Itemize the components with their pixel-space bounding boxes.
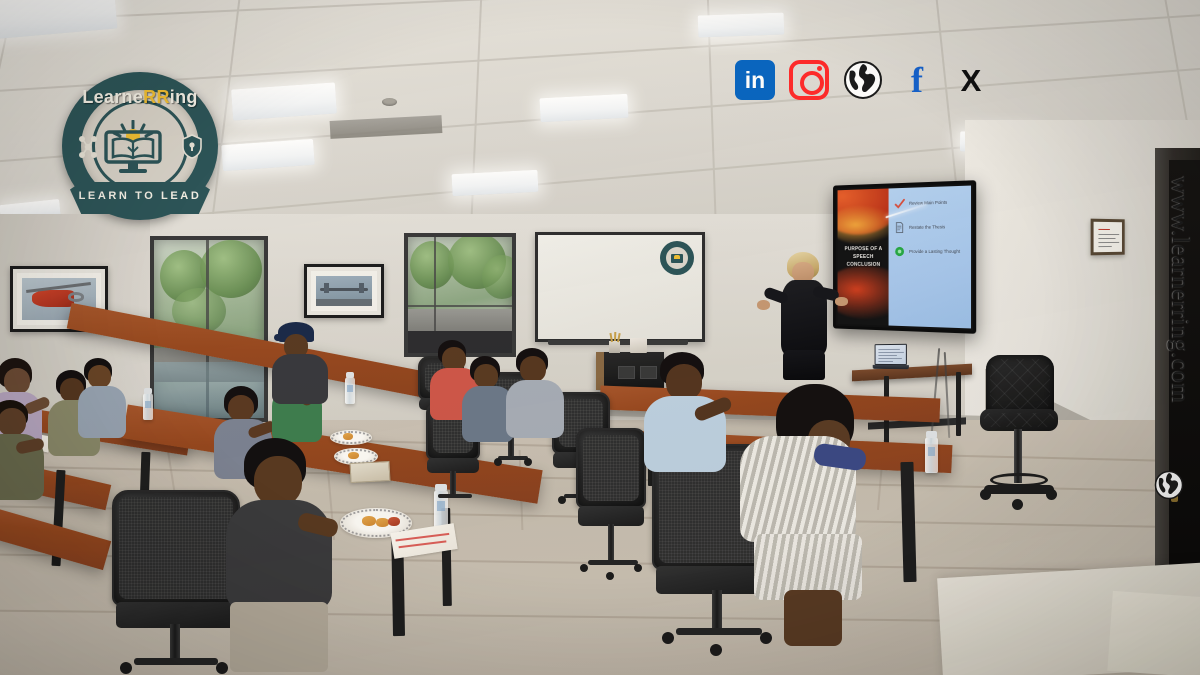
slide-title-line2: SPEECH	[853, 254, 874, 260]
checkmark-icon	[894, 198, 905, 209]
logo-wordmark: LearneRRing	[62, 87, 218, 108]
window-right	[404, 233, 516, 357]
presenter	[773, 252, 839, 392]
presenter-skirt	[783, 350, 825, 380]
paper-plate	[330, 430, 372, 445]
monitor-open-book-sunrise-icon	[98, 120, 168, 176]
social-icon-bar: in f X	[735, 56, 991, 104]
water-bottle	[345, 377, 355, 404]
logo-word-part-2: RR	[143, 87, 170, 107]
drafting-chair[interactable]	[978, 355, 1060, 520]
ceiling-light-panel	[451, 170, 538, 196]
office-chair[interactable]	[112, 490, 240, 675]
logo-word-part-3: ing	[170, 87, 198, 107]
presenter-right-hand	[835, 297, 848, 306]
student-foreground	[226, 438, 332, 672]
facebook-label: f	[911, 64, 923, 96]
slide-bullet-label: Restate the Thesis	[909, 224, 945, 230]
node-network-icon	[78, 134, 98, 165]
desk-leg	[956, 372, 961, 436]
student-foreground	[740, 384, 876, 652]
water-bottle	[925, 437, 938, 473]
drafting-chair-back	[986, 355, 1054, 415]
globe-icon[interactable]	[843, 60, 883, 100]
student	[0, 400, 50, 500]
globe-icon	[1154, 470, 1184, 500]
x-label: X	[961, 65, 982, 96]
slide-bullet: Restate the Thesis	[893, 221, 967, 233]
ceiling-light-panel	[539, 94, 628, 123]
shield-icon	[182, 134, 202, 164]
website-url-watermark: www.learnerring.com	[1166, 176, 1194, 403]
pencil	[614, 332, 616, 341]
framed-certificate	[1091, 219, 1125, 256]
logo-tagline-banner: LEARN TO LEAD	[70, 180, 210, 214]
slide-bullet-panel: Review Main Points Restate the Thesis Pr…	[889, 186, 971, 329]
instagram-icon[interactable]	[789, 60, 829, 100]
presenter-left-hand	[757, 300, 770, 310]
adult-with-cap	[272, 322, 328, 404]
pencil-cup	[609, 341, 620, 353]
tissue-box	[630, 338, 647, 353]
classroom-photo: PURPOSE OF A SPEECH CONCLUSION Review Ma…	[0, 0, 1200, 675]
slide-title-line3: CONCLUSION	[847, 262, 881, 268]
learnerring-logo: LearneRRing	[62, 72, 218, 220]
slide-bullet-label: Provide a Lasting Thought	[909, 249, 960, 255]
slide-title-line1: PURPOSE OF A	[845, 246, 883, 252]
pizza-box	[350, 461, 391, 483]
water-bottle	[143, 393, 153, 420]
bottle-cap	[144, 388, 152, 394]
drafting-chair-base	[984, 485, 1054, 494]
slide-bullet: Provide a Lasting Thought	[893, 246, 967, 257]
document-icon	[894, 222, 905, 233]
whiteboard-seal-icon	[660, 241, 694, 275]
whiteboard	[535, 232, 705, 342]
laptop-screen	[875, 344, 907, 365]
smoke-detector-icon	[382, 98, 397, 106]
laptop[interactable]	[873, 344, 909, 371]
linkedin-label: in	[745, 69, 765, 92]
student	[648, 352, 724, 472]
circle-dot-icon	[894, 246, 905, 257]
slide-bullet-label: Review Main Points	[909, 200, 947, 206]
office-chair[interactable]	[576, 428, 646, 596]
framed-art-aircraft	[304, 264, 384, 318]
linkedin-icon[interactable]: in	[735, 60, 775, 100]
student	[78, 358, 128, 438]
slide-bullet: Review Main Points	[893, 196, 967, 209]
x-icon[interactable]: X	[951, 60, 991, 100]
logo-tagline: LEARN TO LEAD	[79, 190, 202, 202]
logo-word-part-1: Learne	[82, 87, 143, 107]
slide-title: PURPOSE OF A SPEECH CONCLUSION	[841, 246, 886, 269]
ceiling-light-panel	[698, 13, 785, 38]
wall-mounted-tv[interactable]: PURPOSE OF A SPEECH CONCLUSION Review Ma…	[833, 180, 976, 334]
drafting-chair-seat	[980, 409, 1058, 431]
student	[508, 348, 562, 438]
laptop-base	[873, 365, 909, 369]
covered-table-edge	[1107, 591, 1200, 675]
facebook-icon[interactable]: f	[897, 60, 937, 100]
bottle-cap	[346, 372, 354, 378]
bottle-cap	[926, 431, 937, 438]
